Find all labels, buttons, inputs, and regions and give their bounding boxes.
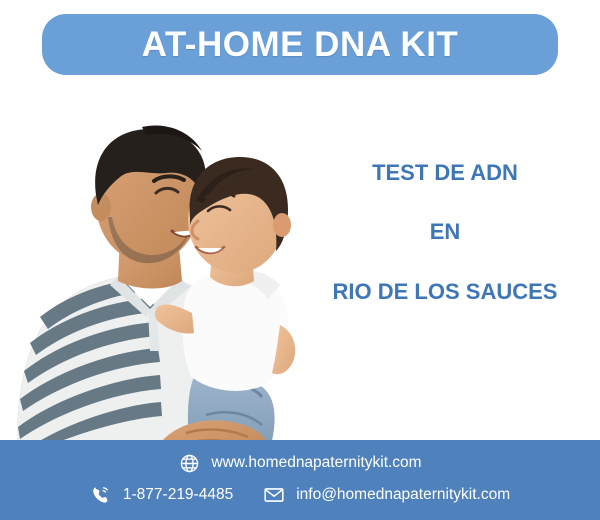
header-banner: AT-HOME DNA KIT [42,14,558,75]
globe-icon [178,452,200,474]
headline-line-3: RIO DE LOS SAUCES [300,279,590,304]
email-label: info@homednapaternitykit.com [296,486,510,504]
envelope-icon [263,484,285,506]
footer-email[interactable]: info@homednapaternitykit.com [263,484,510,506]
headline-line-2: EN [300,219,590,244]
footer-phone[interactable]: 1-877-219-4485 [90,484,233,506]
family-photo [0,85,320,460]
footer-bar: www.homednapaternitykit.com 1-877-219-44… [0,440,600,520]
phone-icon [90,484,112,506]
footer-website[interactable]: www.homednapaternitykit.com [178,452,421,474]
footer-row-contact: 1-877-219-4485 info@homednapaternitykit.… [0,484,600,506]
page-title: AT-HOME DNA KIT [142,27,459,62]
poster-root: AT-HOME DNA KIT [0,0,600,520]
website-label: www.homednapaternitykit.com [211,454,421,472]
family-photo-illustration [0,85,320,460]
phone-label: 1-877-219-4485 [123,486,233,504]
headline-line-1: TEST DE ADN [300,160,590,185]
footer-row-website: www.homednapaternitykit.com [0,452,600,474]
location-headline: TEST DE ADN EN RIO DE LOS SAUCES [300,160,590,304]
